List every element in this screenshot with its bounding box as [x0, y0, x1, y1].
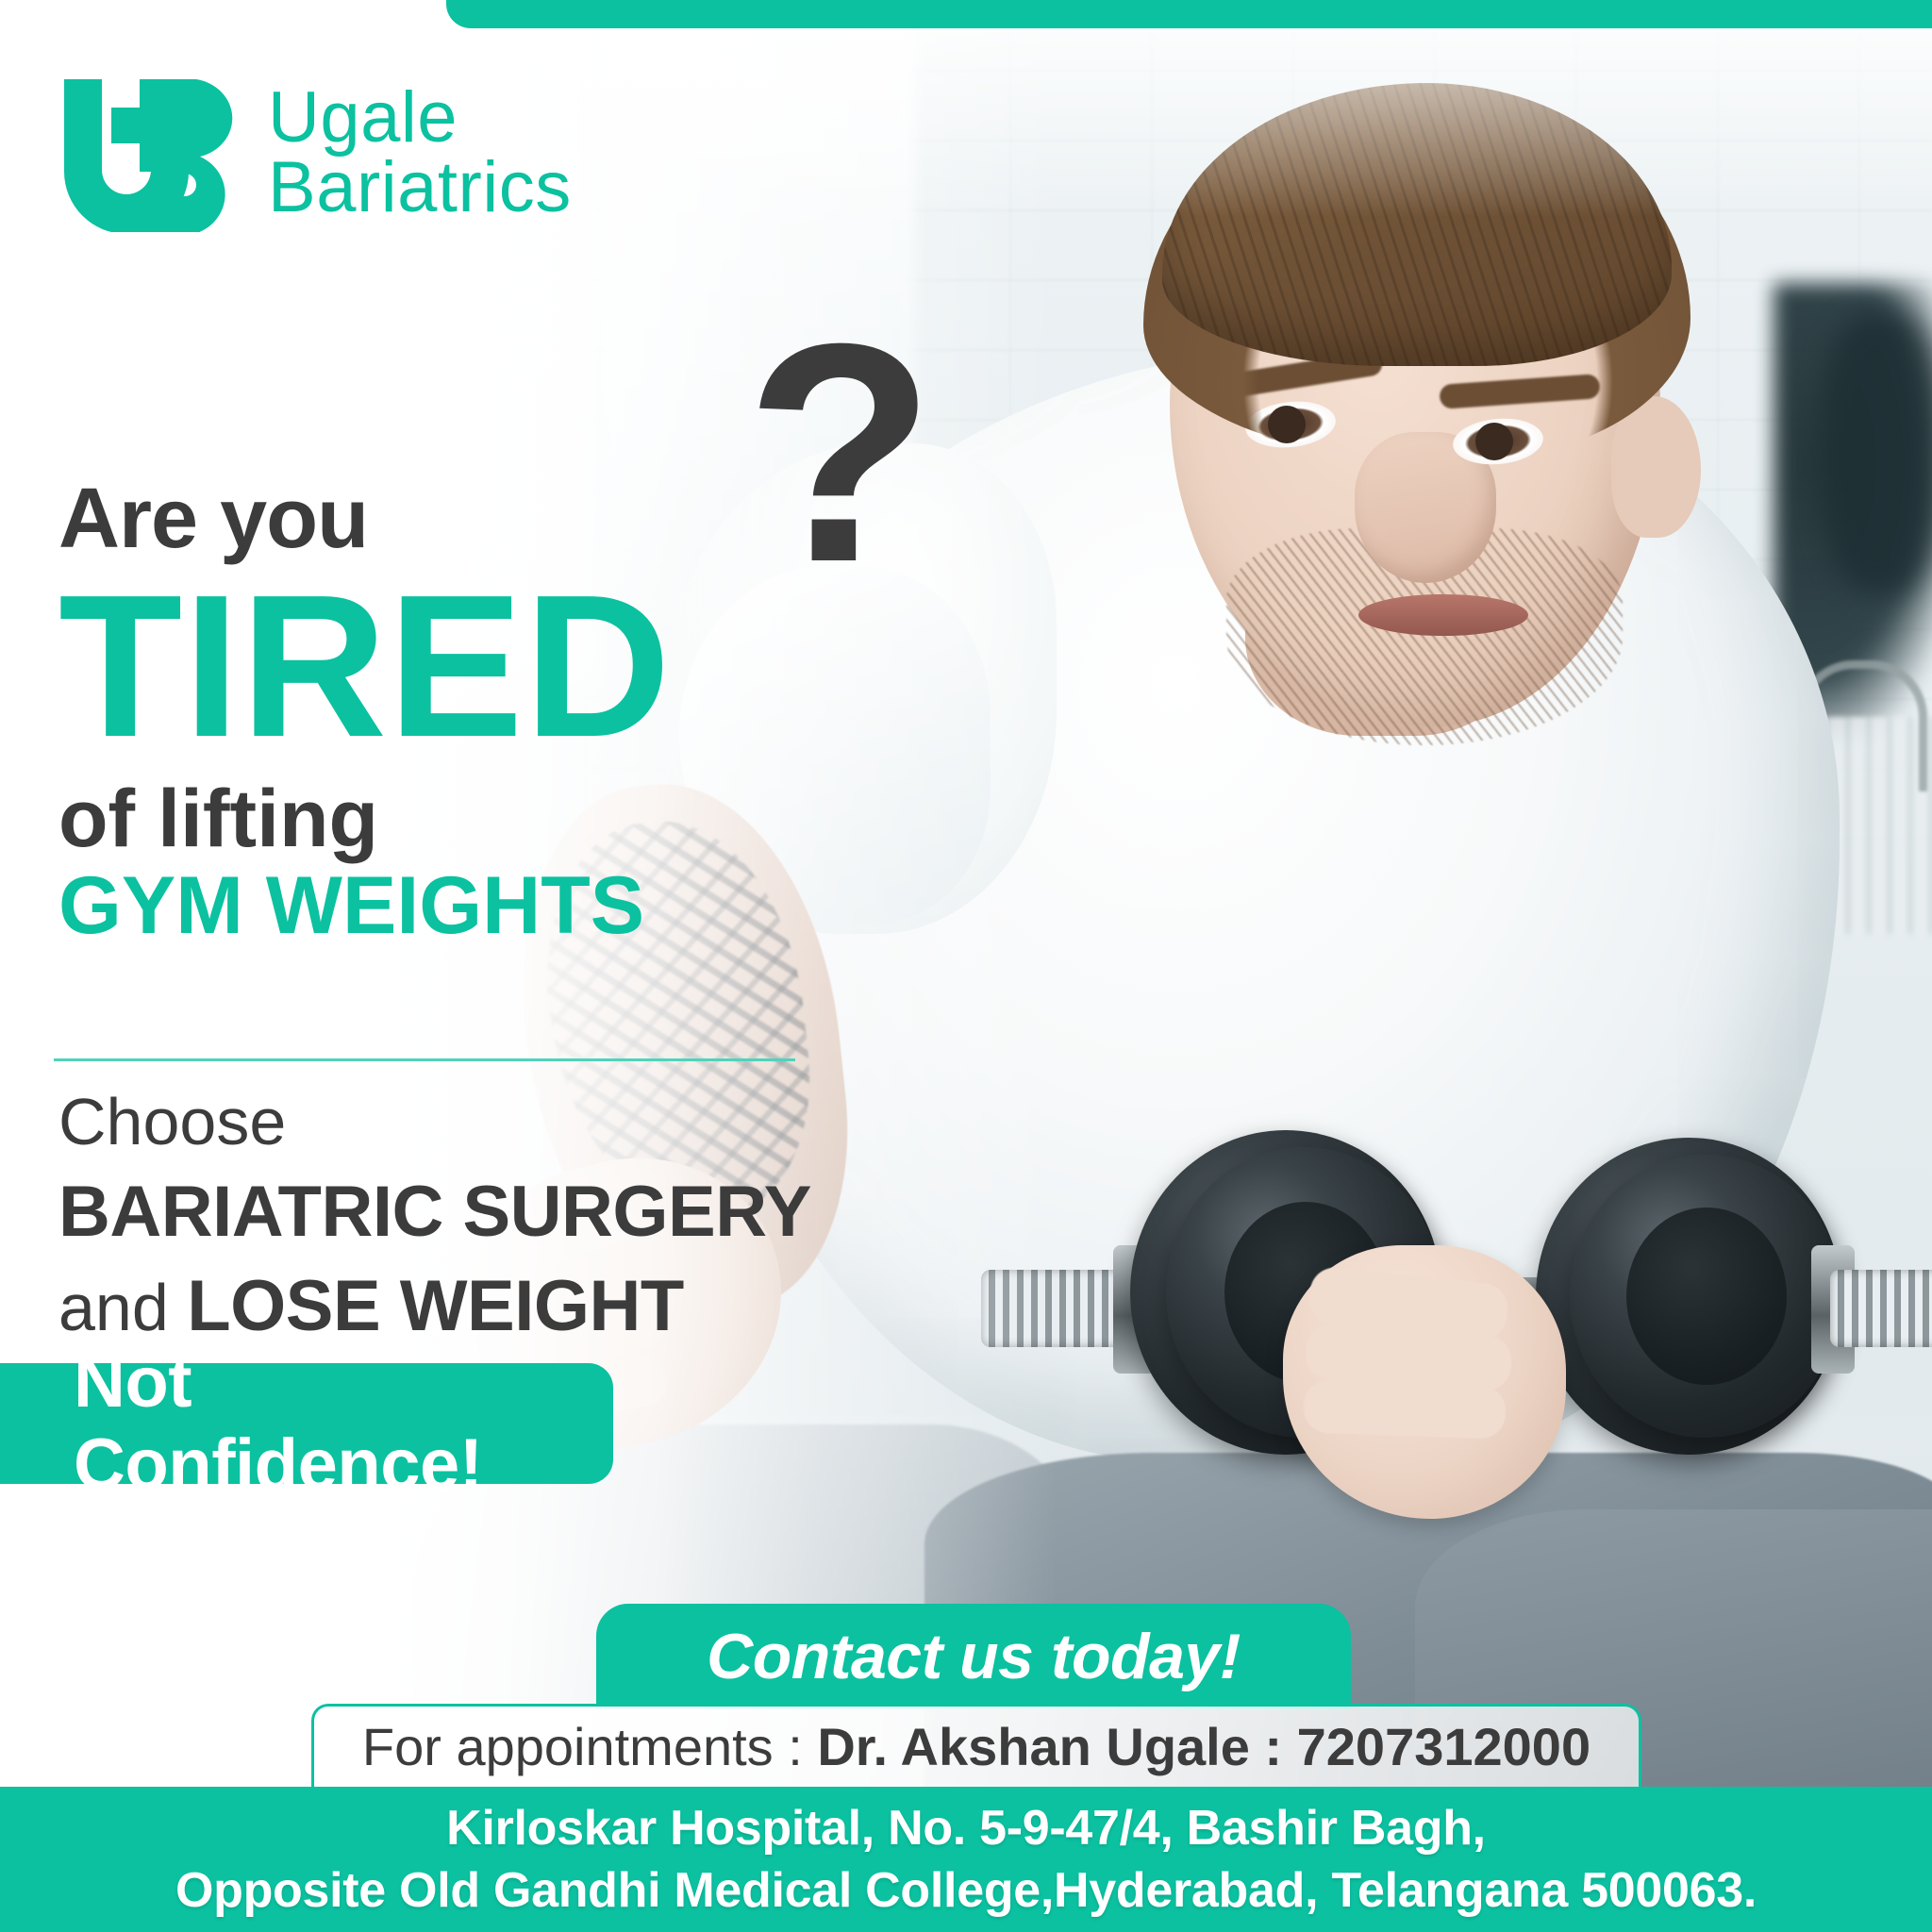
subcopy-lose-weight-bold: LOSE WEIGHT [187, 1266, 684, 1346]
subcopy-and-prefix: and [58, 1271, 187, 1344]
headline-line-3: of lifting [58, 778, 1002, 861]
subcopy-choose: Choose [58, 1085, 1002, 1158]
brand-name-line1: Ugale [268, 83, 572, 153]
address-footer: Kirloskar Hospital, No. 5-9-47/4, Bashir… [0, 1787, 1932, 1932]
dumbbell [981, 1104, 1932, 1481]
brand-name-line2: Bariatrics [268, 153, 572, 223]
weight-plate-right-hub [1626, 1207, 1787, 1385]
advertisement-poster: Ugale Bariatrics Are you TIRED of liftin… [0, 0, 1932, 1932]
hair-strands [1162, 83, 1672, 366]
subcopy-bariatric-surgery: BARIATRIC SURGERY [58, 1172, 1002, 1252]
not-confidence-badge: Not Confidence! [0, 1363, 613, 1484]
appointments-label: For appointments : [362, 1717, 817, 1776]
address-line-1: Kirloskar Hospital, No. 5-9-47/4, Bashir… [446, 1800, 1486, 1857]
headline-line-4: GYM WEIGHTS [58, 865, 644, 948]
appointments-text: For appointments : Dr. Akshan Ugale : 72… [362, 1716, 1591, 1777]
contact-cta-label: Contact us today! [707, 1620, 1241, 1693]
contact-cta-banner[interactable]: Contact us today! [596, 1604, 1351, 1709]
ub-cross-logo-icon [58, 74, 243, 232]
section-divider [54, 1058, 795, 1061]
dumbbell-thread-right [1830, 1270, 1932, 1347]
subcopy-lose-weight: and LOSE WEIGHT [58, 1266, 1002, 1346]
not-confidence-label: Not Confidence! [74, 1341, 613, 1506]
address-line-2: Opposite Old Gandhi Medical College,Hyde… [175, 1862, 1757, 1919]
knuckle [1303, 1379, 1507, 1439]
question-mark-icon: ? [745, 297, 936, 608]
subcopy-block: Choose BARIATRIC SURGERY and LOSE WEIGHT [58, 1085, 1002, 1346]
mouth [1358, 594, 1528, 636]
appointments-box: For appointments : Dr. Akshan Ugale : 72… [311, 1704, 1641, 1787]
top-accent-bar [446, 0, 1932, 28]
brand-logo: Ugale Bariatrics [58, 74, 572, 232]
brand-wordmark: Ugale Bariatrics [268, 83, 572, 224]
headline-block: Are you TIRED of lifting GYM WEIGHTS ? [58, 476, 1002, 948]
doctor-phone: Dr. Akshan Ugale : 7207312000 [817, 1717, 1591, 1776]
